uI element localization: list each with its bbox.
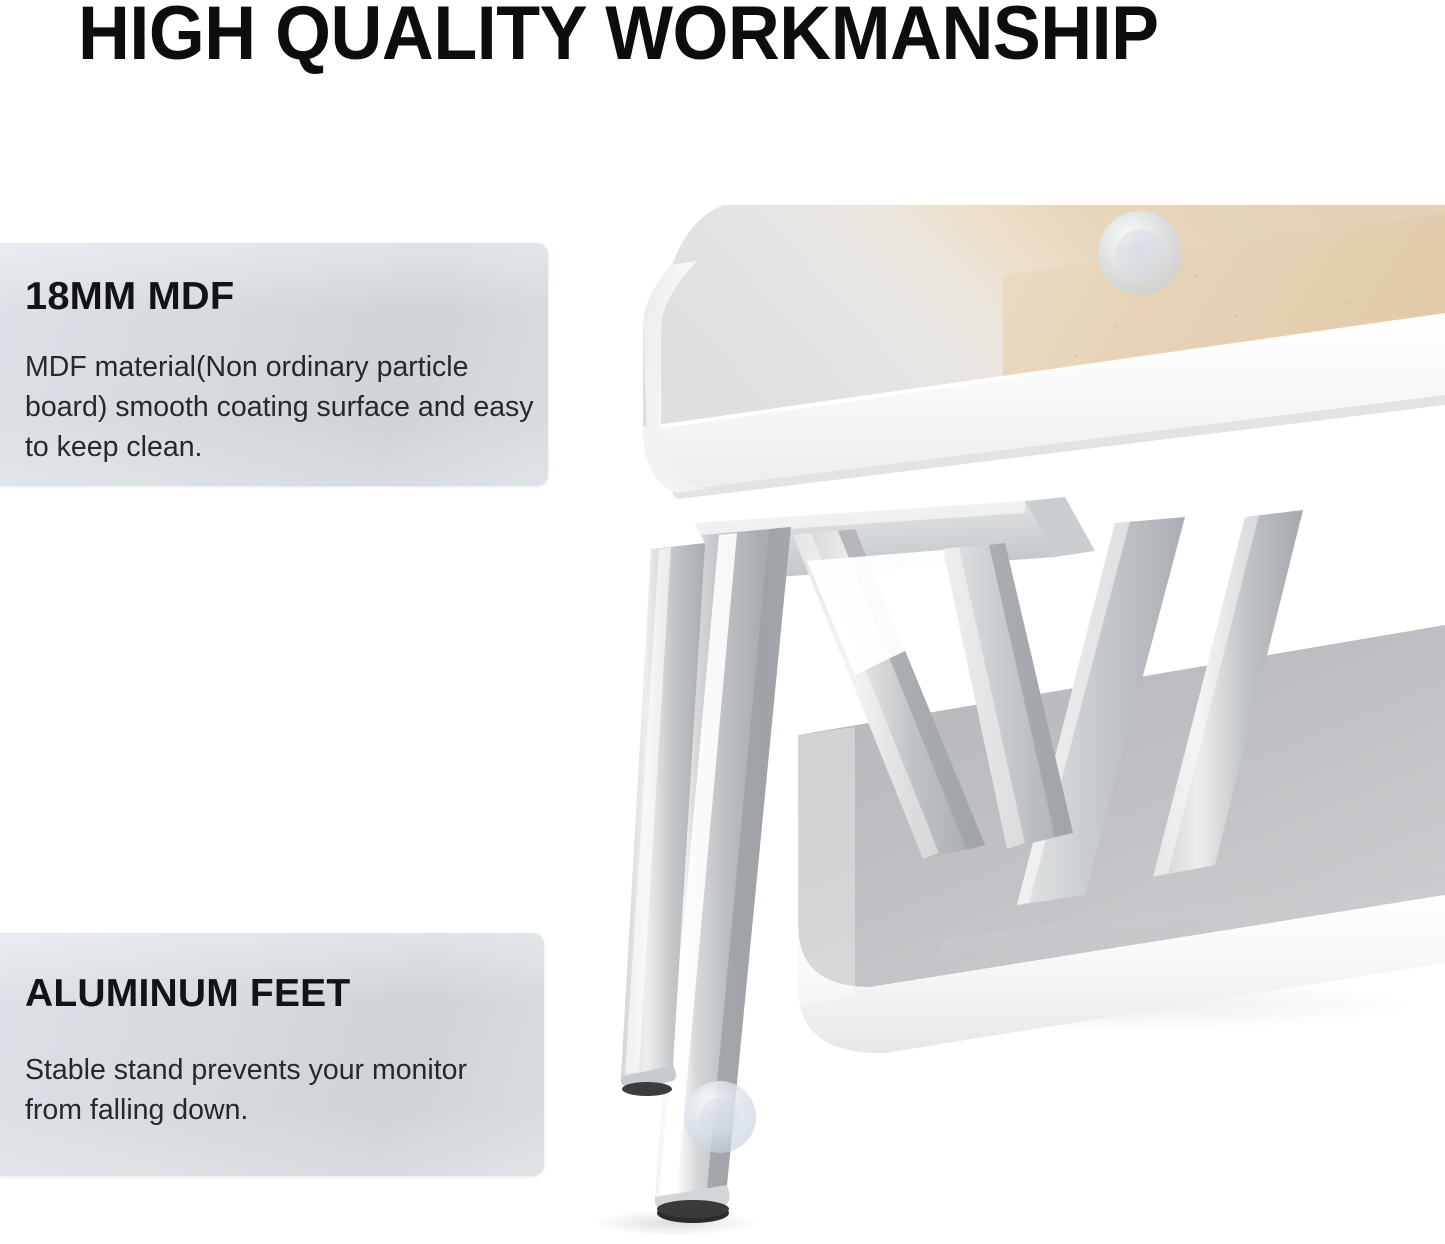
- callout-title-aluminum-feet: ALUMINUM FEET: [25, 973, 350, 1015]
- callout-body-aluminum-feet: Stable stand prevents your monitor from …: [25, 1050, 530, 1130]
- callout-card-aluminum-feet: ALUMINUM FEET Stable stand prevents your…: [0, 933, 544, 1176]
- product-image-monitor-stand: [555, 205, 1445, 1240]
- mdf-top-board: [643, 205, 1445, 499]
- silicone-bumper-pad-top: [1098, 211, 1182, 295]
- a-frame-aperture: [807, 549, 963, 675]
- callout-title-mdf: 18MM MDF: [25, 276, 234, 318]
- callout-card-mdf: 18MM MDF MDF material(Non ordinary parti…: [0, 243, 548, 486]
- callout-body-mdf: MDF material(Non ordinary particle board…: [25, 347, 534, 467]
- silicone-bumper-pad-leg: [684, 1081, 756, 1153]
- page-title: HIGH QUALITY WORKMANSHIP: [78, 0, 1307, 72]
- infographic-canvas: HIGH QUALITY WORKMANSHIP 18MM MDF MDF ma…: [0, 0, 1445, 1244]
